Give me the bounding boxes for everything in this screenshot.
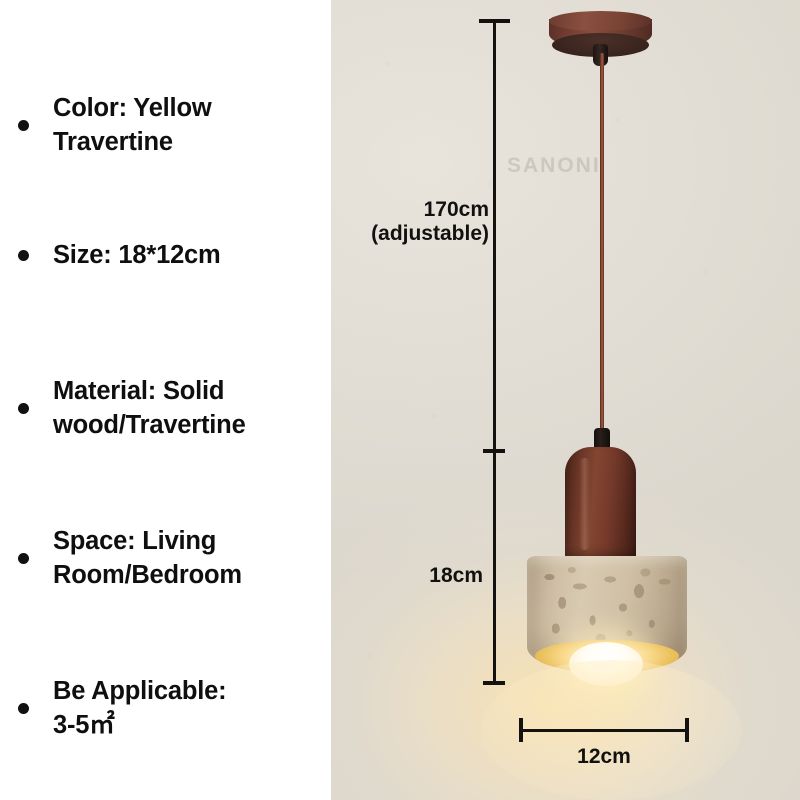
product-photo: SANONI 170cm (adjustable) 18cm 12 [331, 0, 800, 800]
canopy-top [549, 11, 652, 31]
product-spec-image: Color: Yellow Travertine Size: 18*12cm M… [0, 0, 800, 800]
spec-label-applicable: Be Applicable: 3-5㎡ [53, 675, 318, 742]
dimension-tick-height-bottom [483, 681, 505, 685]
bullet-icon [18, 120, 29, 131]
dimension-tick-width-left [519, 718, 523, 742]
bullet-icon [18, 403, 29, 414]
dimension-label-cord: 170cm (adjustable) [349, 198, 489, 247]
spec-item-color: Color: Yellow Travertine [18, 92, 318, 159]
brand-watermark: SANONI [507, 154, 601, 178]
dimension-tick-width-right [685, 718, 689, 742]
spec-label-color: Color: Yellow Travertine [53, 92, 318, 159]
spec-item-space: Space: Living Room/Bedroom [18, 525, 318, 592]
lamp-body-highlight [579, 458, 590, 550]
spec-item-material: Material: Solid wood/Travertine [18, 375, 318, 442]
spec-item-applicable: Be Applicable: 3-5㎡ [18, 675, 318, 742]
suspension-cord [600, 53, 604, 435]
dimension-line-height [493, 451, 496, 684]
specification-list: Color: Yellow Travertine Size: 18*12cm M… [0, 0, 331, 800]
dimension-line-width [520, 729, 688, 732]
dimension-label-width: 12cm [520, 745, 688, 769]
dimension-label-height: 18cm [365, 564, 483, 588]
bullet-icon [18, 553, 29, 564]
bullet-icon [18, 703, 29, 714]
spec-label-material: Material: Solid wood/Travertine [53, 375, 318, 442]
dimension-line-cord [493, 21, 496, 451]
bullet-icon [18, 250, 29, 261]
specification-panel: Color: Yellow Travertine Size: 18*12cm M… [0, 0, 331, 800]
spec-label-space: Space: Living Room/Bedroom [53, 525, 318, 592]
spec-label-size: Size: 18*12cm [53, 239, 318, 273]
spec-item-size: Size: 18*12cm [18, 239, 318, 273]
wooden-lamp-body [565, 447, 636, 560]
dimension-tick-cord-top [479, 19, 510, 23]
